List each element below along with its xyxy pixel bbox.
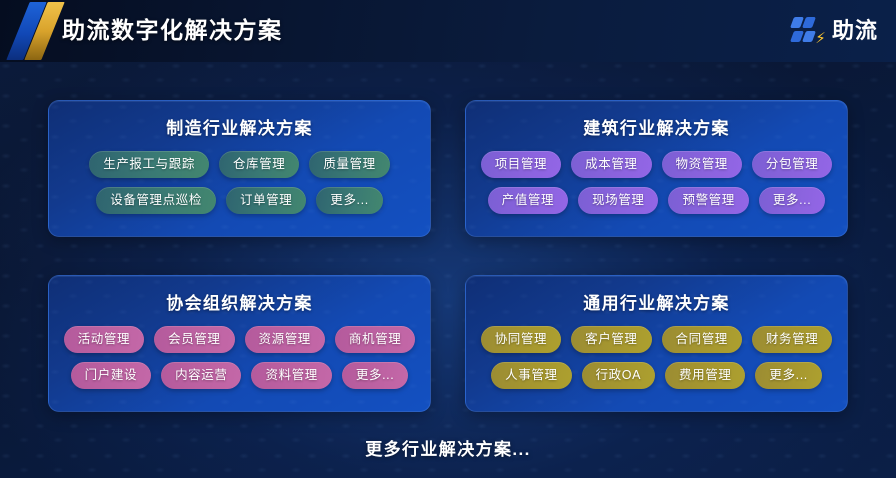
pill-row: 门户建设 内容运营 资料管理 更多... xyxy=(65,362,414,389)
solution-pill[interactable]: 资料管理 xyxy=(251,362,331,389)
solution-pill[interactable]: 行政OA xyxy=(582,362,655,389)
solution-pill[interactable]: 费用管理 xyxy=(665,362,745,389)
card-title: 建筑行业解决方案 xyxy=(466,114,847,139)
pill-row: 项目管理 成本管理 物资管理 分包管理 xyxy=(482,151,831,178)
solution-pill[interactable]: 合同管理 xyxy=(662,326,742,353)
brand-logo: ⚡ 助流 xyxy=(791,11,878,51)
pill-row: 活动管理 会员管理 资源管理 商机管理 xyxy=(65,326,414,353)
solution-pill[interactable]: 活动管理 xyxy=(64,326,144,353)
pill-row: 协同管理 客户管理 合同管理 财务管理 xyxy=(482,326,831,353)
lightning-bolt-icon: ⚡ xyxy=(815,31,826,47)
solution-pill[interactable]: 仓库管理 xyxy=(219,151,299,178)
solution-pill-more[interactable]: 更多... xyxy=(316,187,382,214)
brand-block-2 xyxy=(802,17,816,28)
solution-pill[interactable]: 会员管理 xyxy=(154,326,234,353)
solution-pill[interactable]: 物资管理 xyxy=(662,151,742,178)
solution-pill-more[interactable]: 更多... xyxy=(342,362,408,389)
solution-pill[interactable]: 现场管理 xyxy=(578,187,658,214)
solution-pill[interactable]: 内容运营 xyxy=(161,362,241,389)
card-pill-rows: 协同管理 客户管理 合同管理 财务管理 人事管理 行政OA 费用管理 更多... xyxy=(466,326,847,389)
solution-card-association[interactable]: 协会组织解决方案 活动管理 会员管理 资源管理 商机管理 门户建设 内容运营 资… xyxy=(48,275,431,412)
solution-pill[interactable]: 产值管理 xyxy=(488,187,568,214)
footer-more-solutions: 更多行业解决方案... xyxy=(0,435,896,460)
solution-pill[interactable]: 成本管理 xyxy=(571,151,651,178)
solution-pill[interactable]: 商机管理 xyxy=(335,326,415,353)
solution-pill[interactable]: 人事管理 xyxy=(491,362,571,389)
solution-pill[interactable]: 分包管理 xyxy=(752,151,832,178)
pill-row: 产值管理 现场管理 预警管理 更多... xyxy=(482,187,831,214)
solution-pill[interactable]: 质量管理 xyxy=(309,151,389,178)
solution-pill[interactable]: 项目管理 xyxy=(481,151,561,178)
page-title: 助流数字化解决方案 xyxy=(62,13,283,47)
pill-row: 人事管理 行政OA 费用管理 更多... xyxy=(482,362,831,389)
brand-block-4 xyxy=(802,31,816,42)
zhuliu-parallelogram-bolt-icon: ⚡ xyxy=(791,15,825,47)
pill-row: 设备管理点巡检 订单管理 更多... xyxy=(65,187,414,214)
slide-canvas: 助流数字化解决方案 ⚡ 助流 制造行业解决方案 生产报工与跟踪 仓库管理 质量管… xyxy=(0,0,896,478)
card-pill-rows: 活动管理 会员管理 资源管理 商机管理 门户建设 内容运营 资料管理 更多... xyxy=(49,326,430,389)
solution-pill[interactable]: 客户管理 xyxy=(571,326,651,353)
double-slash-logo-icon xyxy=(8,0,66,62)
card-pill-rows: 生产报工与跟踪 仓库管理 质量管理 设备管理点巡检 订单管理 更多... xyxy=(49,151,430,214)
pill-row: 生产报工与跟踪 仓库管理 质量管理 xyxy=(65,151,414,178)
solution-pill[interactable]: 生产报工与跟踪 xyxy=(89,151,209,178)
solution-card-manufacturing[interactable]: 制造行业解决方案 生产报工与跟踪 仓库管理 质量管理 设备管理点巡检 订单管理 … xyxy=(48,100,431,237)
solution-card-grid: 制造行业解决方案 生产报工与跟踪 仓库管理 质量管理 设备管理点巡检 订单管理 … xyxy=(48,100,848,412)
card-title: 协会组织解决方案 xyxy=(49,289,430,314)
solution-pill[interactable]: 订单管理 xyxy=(226,187,306,214)
solution-pill[interactable]: 预警管理 xyxy=(668,187,748,214)
solution-pill[interactable]: 财务管理 xyxy=(752,326,832,353)
card-title: 制造行业解决方案 xyxy=(49,114,430,139)
solution-pill[interactable]: 资源管理 xyxy=(245,326,325,353)
brand-name: 助流 xyxy=(832,16,878,46)
solution-card-general[interactable]: 通用行业解决方案 协同管理 客户管理 合同管理 财务管理 人事管理 行政OA 费… xyxy=(465,275,848,412)
card-title: 通用行业解决方案 xyxy=(466,289,847,314)
solution-card-construction[interactable]: 建筑行业解决方案 项目管理 成本管理 物资管理 分包管理 产值管理 现场管理 预… xyxy=(465,100,848,237)
solution-pill[interactable]: 协同管理 xyxy=(481,326,561,353)
solution-pill[interactable]: 设备管理点巡检 xyxy=(96,187,216,214)
solution-pill[interactable]: 门户建设 xyxy=(71,362,151,389)
card-pill-rows: 项目管理 成本管理 物资管理 分包管理 产值管理 现场管理 预警管理 更多... xyxy=(466,151,847,214)
solution-pill-more[interactable]: 更多... xyxy=(755,362,821,389)
header-bar: 助流数字化解决方案 ⚡ 助流 xyxy=(0,0,896,62)
solution-pill-more[interactable]: 更多... xyxy=(759,187,825,214)
